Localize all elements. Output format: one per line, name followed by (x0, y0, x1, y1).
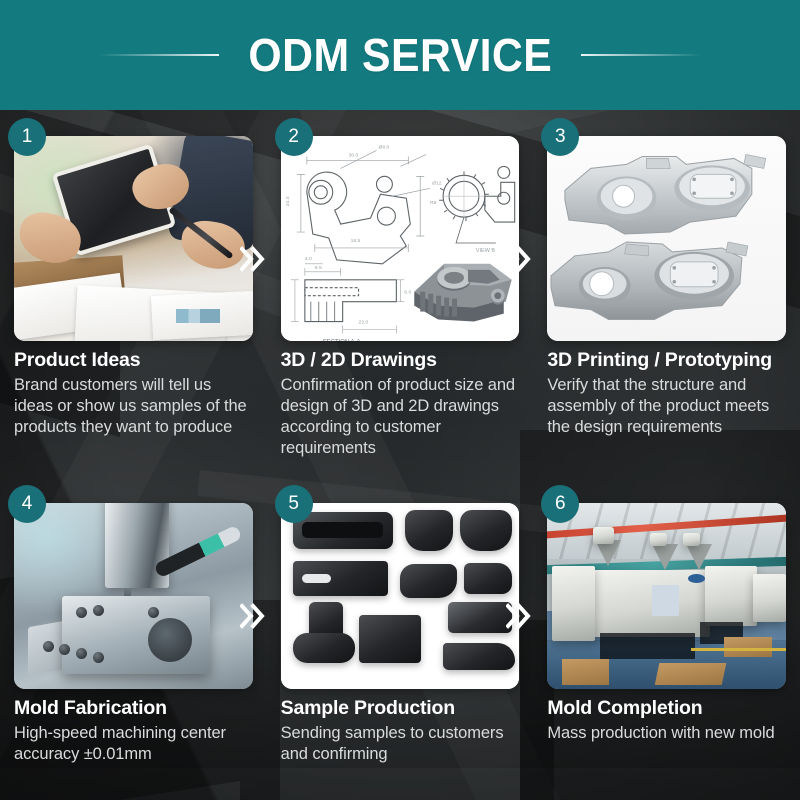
step-5-image (281, 503, 520, 689)
step-4-description: High-speed machining center accuracy ±0.… (14, 723, 253, 765)
odm-service-infographic: ODM SERVICE (0, 0, 800, 800)
step-card-1[interactable]: 1 Product Ideas Brand customers will tel… (0, 110, 267, 477)
step-6-title: Mold Completion (547, 697, 786, 720)
step-3-image (547, 136, 786, 341)
step-4-image (14, 503, 253, 689)
step-3-title: 3D Printing / Prototyping (547, 349, 786, 372)
step-1-image (14, 136, 253, 341)
step-card-2[interactable]: 30.0 24.0 18.5 R6 Ø8.0 Ø12 (267, 110, 534, 477)
step-5-description: Sending samples to customers and confirm… (281, 723, 520, 765)
svg-text:Ø8.0: Ø8.0 (378, 145, 389, 151)
process-steps-grid: 1 Product Ideas Brand customers will tel… (0, 110, 800, 800)
svg-text:24.0: 24.0 (285, 196, 291, 206)
step-number-badge-4: 4 (8, 485, 46, 523)
step-card-6[interactable]: 6 Mold Completion Mass production with n… (533, 477, 800, 800)
step-6-description: Mass production with new mold (547, 723, 786, 744)
title-rule-right (581, 54, 701, 56)
step-3-description: Verify that the structure and assembly o… (547, 375, 786, 438)
svg-text:Ø12: Ø12 (432, 180, 442, 186)
step-2-title: 3D / 2D Drawings (281, 349, 520, 372)
title-rule-left (99, 54, 219, 56)
svg-text:SECTION A-A: SECTION A-A (322, 339, 360, 341)
svg-text:VIEW B: VIEW B (476, 248, 495, 254)
svg-text:R6: R6 (430, 200, 437, 206)
step-1-title: Product Ideas (14, 349, 253, 372)
step-1-description: Brand customers will tell us ideas or sh… (14, 375, 253, 438)
step-card-3[interactable]: 3 3D Printing / Prototyping Verify that … (533, 110, 800, 477)
svg-text:9.5: 9.5 (314, 265, 321, 271)
step-2-image: 30.0 24.0 18.5 R6 Ø8.0 Ø12 (281, 136, 520, 341)
step-2-description: Confirmation of product size and design … (281, 375, 520, 459)
svg-text:30.0: 30.0 (348, 152, 358, 158)
step-6-image (547, 503, 786, 689)
svg-text:6.0: 6.0 (404, 290, 411, 296)
step-4-title: Mold Fabrication (14, 697, 253, 720)
step-number-badge-2: 2 (275, 118, 313, 156)
step-number-badge-5: 5 (275, 485, 313, 523)
svg-text:22.0: 22.0 (358, 320, 368, 326)
svg-text:4.0: 4.0 (305, 256, 312, 262)
step-number-badge-1: 1 (8, 118, 46, 156)
header-banner: ODM SERVICE (0, 0, 800, 110)
step-5-title: Sample Production (281, 697, 520, 720)
step-card-4[interactable]: 4 Mold Fabrication High-speed machining … (0, 477, 267, 800)
page-title: ODM SERVICE (248, 32, 552, 78)
svg-text:18.5: 18.5 (350, 238, 360, 244)
step-card-5[interactable]: 5 Sample Production Sending samples to c… (267, 477, 534, 800)
